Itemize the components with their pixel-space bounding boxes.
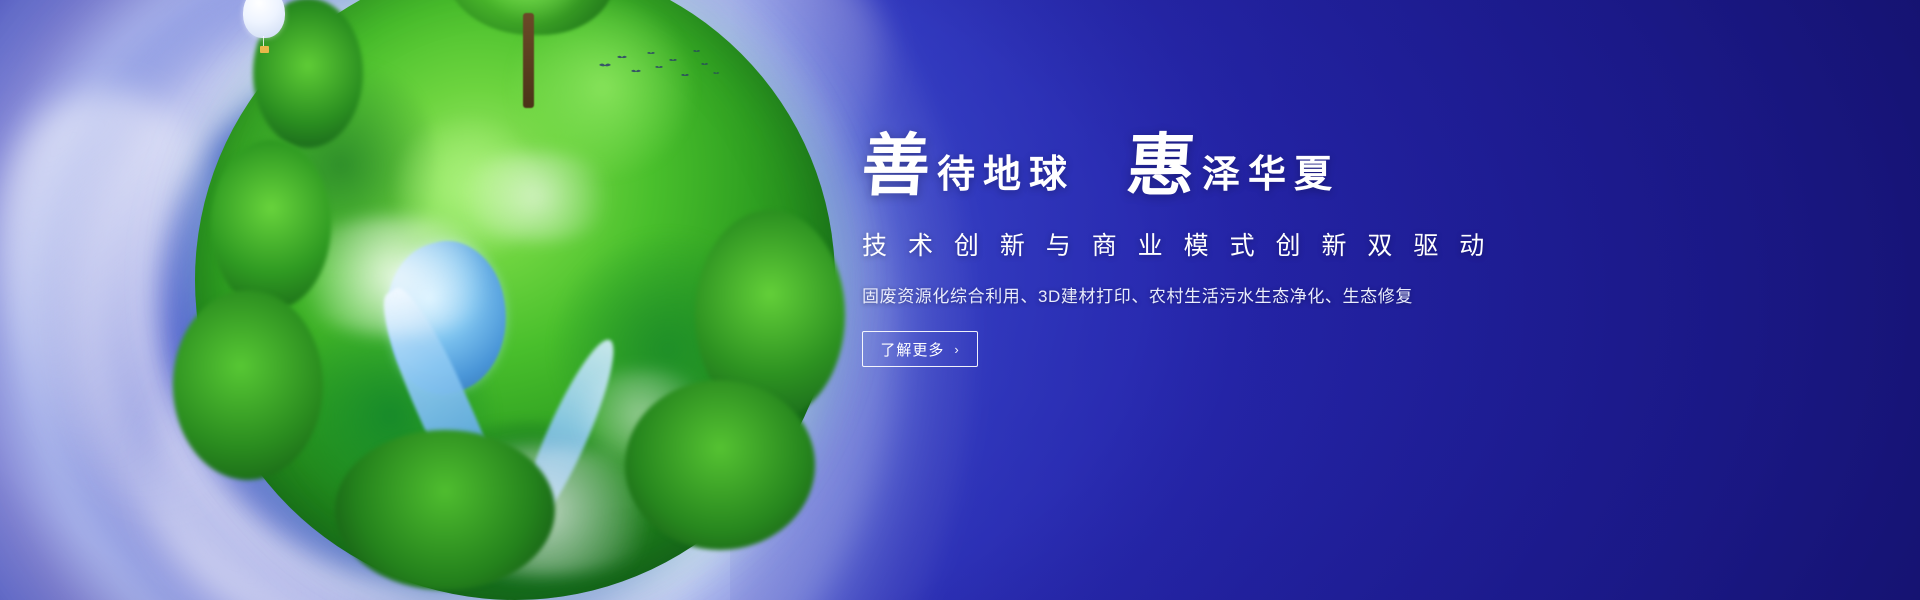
hero-content: 善 待地球 惠 泽华夏 技 术 创 新 与 商 业 模 式 创 新 双 驱 动 … <box>862 132 1582 367</box>
headline-text-zehuaxia: 泽华夏 <box>1202 156 1340 200</box>
chevron-right-icon: › <box>954 343 959 356</box>
hero-description: 固废资源化综合利用、3D建材打印、农村生活污水生态净化、生态修复 <box>862 282 1582 307</box>
headline-char-hui: 惠 <box>1125 132 1199 200</box>
hero-banner: 善 待地球 惠 泽华夏 技 术 创 新 与 商 业 模 式 创 新 双 驱 动 … <box>0 0 1920 600</box>
hero-subtitle: 技 术 创 新 与 商 业 模 式 创 新 双 驱 动 <box>862 226 1582 262</box>
headline-char-shan: 善 <box>860 132 934 200</box>
page-title: 善 待地球 惠 泽华夏 <box>862 132 1582 200</box>
headline-text-daidiqiu: 待地球 <box>937 156 1075 200</box>
learn-more-button[interactable]: 了解更多 › <box>862 331 978 367</box>
learn-more-label: 了解更多 <box>880 339 944 360</box>
